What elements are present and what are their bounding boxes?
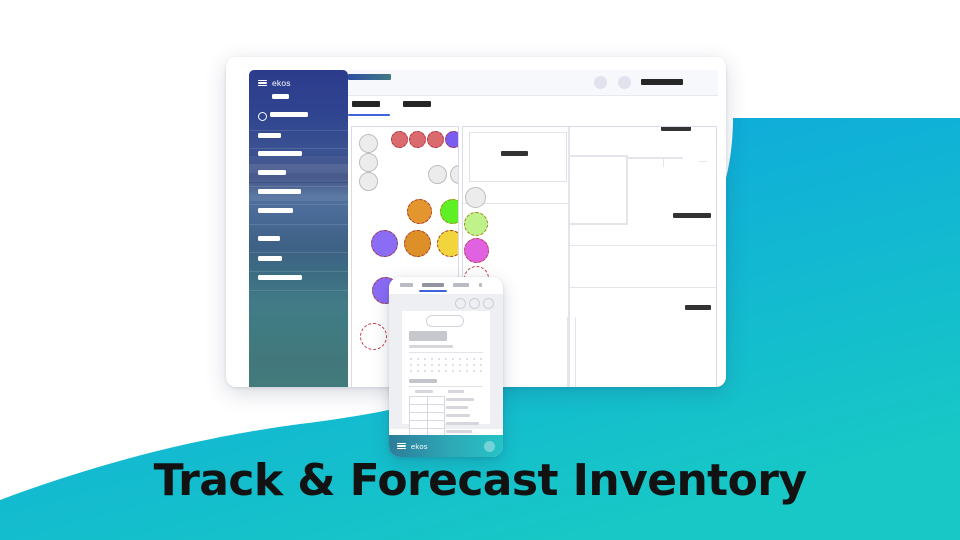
inventory-tank[interactable] <box>427 131 444 148</box>
inventory-tank[interactable] <box>437 230 459 257</box>
phone-subtitle <box>409 345 453 348</box>
floorplan-room <box>469 132 567 182</box>
floorplan-marker <box>673 213 711 218</box>
sidebar-item-8[interactable] <box>258 256 282 261</box>
phone-footer-logo-label: ekos <box>411 442 428 451</box>
lock-icon <box>258 112 267 121</box>
tab-bar <box>348 101 718 119</box>
inventory-tank[interactable] <box>464 238 489 263</box>
inventory-tank[interactable] <box>359 153 378 172</box>
tab-1-label <box>403 101 431 107</box>
topbar-action-button[interactable] <box>641 79 683 85</box>
avatar[interactable] <box>618 76 631 89</box>
phone-col-header <box>415 390 433 393</box>
sidebar-item-0[interactable] <box>272 94 289 99</box>
phone-table-note <box>446 398 474 401</box>
app-sidebar[interactable]: ekos <box>249 70 348 387</box>
inventory-tank[interactable] <box>464 212 488 236</box>
inventory-tank[interactable] <box>360 323 387 350</box>
tab-active-indicator <box>348 114 390 116</box>
phone-step-dots[interactable] <box>455 298 494 309</box>
inventory-tank[interactable] <box>371 230 398 257</box>
inventory-tank[interactable] <box>465 187 486 208</box>
floorplan-room-label <box>501 151 528 156</box>
phone-content <box>389 294 503 429</box>
phone-footer-bar[interactable]: ekos <box>389 435 503 457</box>
inventory-tank[interactable] <box>428 165 447 184</box>
app-topbar <box>348 70 718 96</box>
page-title: Track & Forecast Inventory <box>0 455 960 506</box>
phone-table-note <box>446 422 479 425</box>
phone-heading <box>409 331 447 341</box>
phone-tab-2[interactable] <box>453 283 469 287</box>
inventory-tank[interactable] <box>450 165 459 184</box>
phone-tab-1[interactable] <box>422 283 444 287</box>
hamburger-menu-icon[interactable] <box>397 443 406 450</box>
divider <box>409 352 483 353</box>
sidebar-item-4[interactable] <box>258 170 286 175</box>
sidebar-item-6[interactable] <box>258 208 293 213</box>
phone-tab-bar <box>389 277 503 294</box>
floorplan-marker <box>661 126 691 131</box>
sidebar-item-7[interactable] <box>258 236 280 241</box>
phone-section-label <box>409 379 437 383</box>
tab-0[interactable] <box>352 101 380 107</box>
phone-col-header <box>448 390 464 393</box>
inventory-tank[interactable] <box>391 131 408 148</box>
sidebar-item-1[interactable] <box>270 112 308 117</box>
user-avatar-icon[interactable] <box>484 441 495 452</box>
sidebar-logo[interactable]: ekos <box>258 78 291 88</box>
hamburger-menu-icon[interactable] <box>258 80 267 87</box>
phone-table-note <box>446 430 472 433</box>
phone-badge <box>426 315 464 327</box>
topbar-brand-accent <box>348 74 391 80</box>
inventory-tank[interactable] <box>359 172 378 191</box>
floorplan-marker <box>685 305 711 310</box>
tab-1[interactable] <box>403 101 431 107</box>
inventory-tank[interactable] <box>407 199 432 224</box>
sidebar-item-3[interactable] <box>258 151 302 156</box>
slide-stage: ekos <box>0 0 960 540</box>
mobile-app-mockup: ekos <box>389 277 503 457</box>
inventory-tank[interactable] <box>359 134 378 153</box>
sidebar-logo-label: ekos <box>272 78 291 88</box>
phone-tab-active-indicator <box>419 290 447 292</box>
divider <box>409 386 483 387</box>
inventory-tank[interactable] <box>404 230 431 257</box>
phone-form-sheet <box>402 311 490 424</box>
sidebar-item-5[interactable] <box>258 189 301 194</box>
inventory-tank[interactable] <box>445 131 459 148</box>
phone-table-note <box>446 414 470 417</box>
sidebar-item-2[interactable] <box>258 133 281 138</box>
inventory-tank[interactable] <box>409 131 426 148</box>
phone-tab-3[interactable] <box>479 283 482 287</box>
tab-0-label <box>352 101 380 107</box>
avatar[interactable] <box>594 76 607 89</box>
phone-tab-0[interactable] <box>400 283 413 287</box>
phone-table-note <box>446 406 468 409</box>
sidebar-item-9[interactable] <box>258 275 302 280</box>
inventory-tank[interactable] <box>440 199 459 224</box>
